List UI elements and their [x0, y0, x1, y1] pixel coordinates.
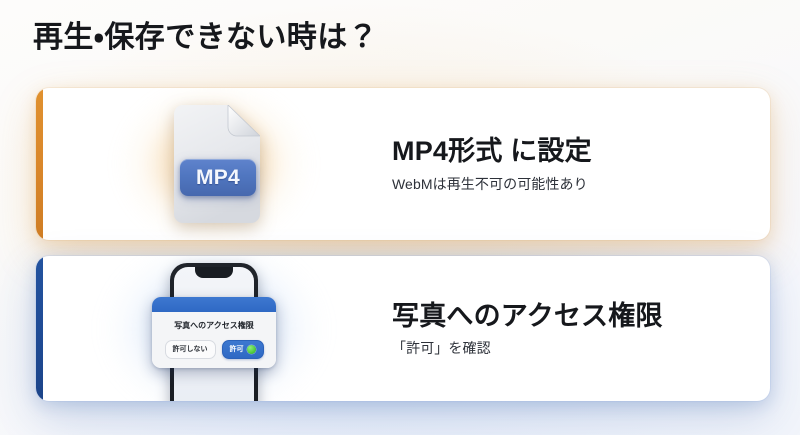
- card-mp4-illustration: MP4: [36, 88, 392, 240]
- permission-dialog-title: 写真へのアクセス権限: [159, 321, 269, 331]
- smartphone-icon: 写真へのアクセス権限 許可しない 許可: [150, 256, 278, 401]
- card-mp4-text: MP4形式 に設定 WebMは再生不可の可能性あり: [392, 135, 770, 193]
- card-photo-permission[interactable]: 写真へのアクセス権限 許可しない 許可 写真へのアクセス権限 「許可」を確認: [36, 256, 770, 401]
- check-circle-icon: [247, 345, 256, 354]
- card-mp4-title: MP4形式 に設定: [392, 135, 748, 167]
- mp4-format-badge: MP4: [180, 159, 256, 196]
- permission-deny-button[interactable]: 許可しない: [165, 340, 216, 359]
- permission-dialog-header: [152, 297, 276, 312]
- card-permission-subtitle: 「許可」を確認: [392, 339, 748, 357]
- page-title: 再生・保存できない時は？: [33, 21, 378, 56]
- page-root: 再生・保存できない時は？: [0, 0, 800, 435]
- card-permission-title: 写真へのアクセス権限: [392, 300, 748, 332]
- mp4-badge-label: MP4: [196, 167, 240, 188]
- mp4-file-icon: MP4: [168, 105, 260, 223]
- card-permission-illustration: 写真へのアクセス権限 許可しない 許可: [36, 256, 392, 401]
- permission-allow-label: 許可: [230, 346, 244, 353]
- permission-dialog: 写真へのアクセス権限 許可しない 許可: [152, 297, 276, 368]
- card-mp4-subtitle: WebMは再生不可の可能性あり: [392, 175, 748, 193]
- card-mp4-format[interactable]: MP4 MP4形式 に設定 WebMは再生不可の可能性あり: [36, 88, 770, 240]
- card-permission-text: 写真へのアクセス権限 「許可」を確認: [392, 300, 770, 358]
- phone-notch: [195, 267, 233, 278]
- permission-dialog-buttons: 許可しない 許可: [159, 340, 269, 359]
- permission-dialog-body: 写真へのアクセス権限 許可しない 許可: [152, 312, 276, 368]
- permission-allow-button[interactable]: 許可: [222, 340, 264, 359]
